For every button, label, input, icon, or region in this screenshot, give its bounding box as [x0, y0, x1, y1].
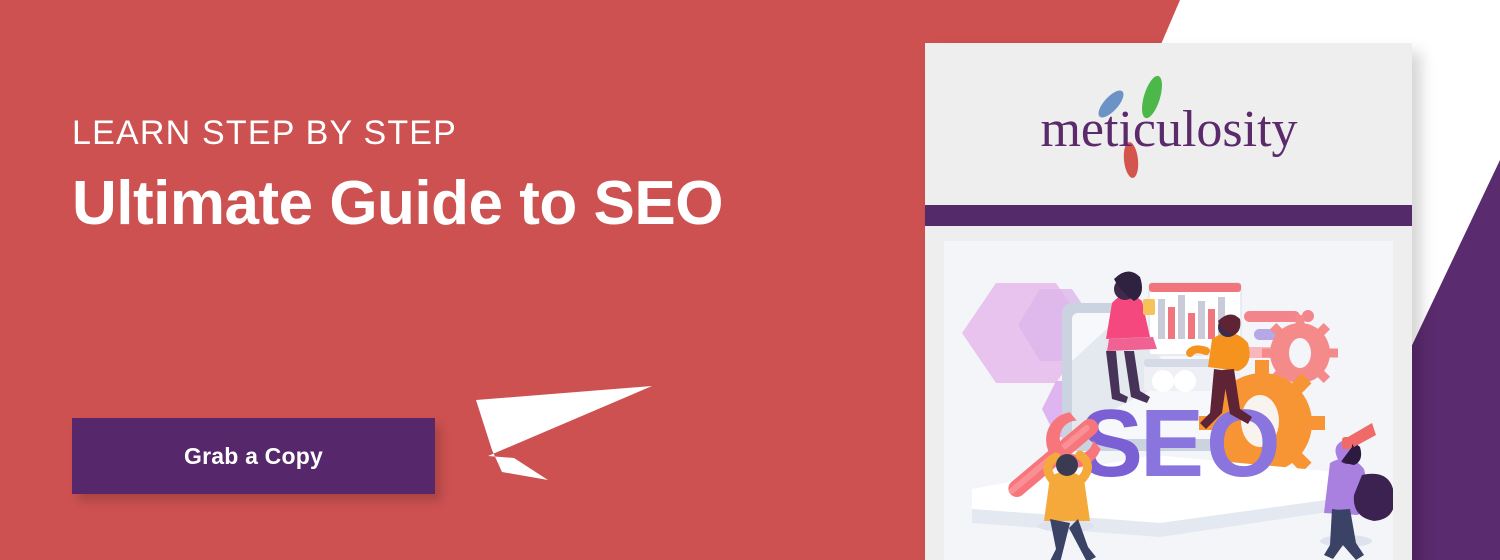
illustration-panel: S E O [944, 241, 1393, 560]
page-title: Ultimate Guide to SEO [72, 168, 723, 239]
svg-text:E: E [1140, 390, 1204, 497]
seo-illustration: S E O [944, 241, 1393, 560]
grab-a-copy-button[interactable]: Grab a Copy [72, 418, 435, 494]
svg-text:meticulosity: meticulosity [1040, 101, 1297, 158]
cta-container: Grab a Copy [72, 418, 435, 494]
arrow-pointing-left-icon [452, 384, 652, 496]
cover-accent-band [925, 205, 1412, 226]
guide-cover-card[interactable]: meticulosity [925, 43, 1412, 560]
seo-guide-promo-banner: LEARN STEP BY STEP Ultimate Guide to SEO… [0, 0, 1500, 560]
cover-footer-text [963, 553, 1374, 560]
eyebrow-text: LEARN STEP BY STEP [72, 114, 457, 153]
cover-body: S E O [925, 226, 1412, 560]
cover-header: meticulosity [925, 43, 1412, 205]
meticulosity-logo: meticulosity [1039, 64, 1299, 184]
svg-text:S: S [1079, 390, 1143, 497]
